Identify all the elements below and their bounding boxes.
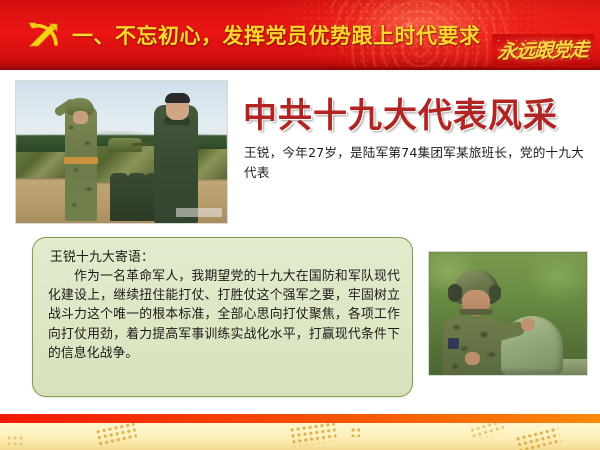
slide-canvas: 一、不忘初心，发挥党员优势跟上时代要求 永远跟党走 中共十九大代表风采 [0, 0, 600, 450]
photo-watermark [176, 208, 222, 217]
photo-soldier-saluting-leader [15, 80, 228, 224]
quote-heading: 王锐十九大寄语： [50, 249, 154, 267]
page-title: 中共十九大代表风采 [243, 88, 591, 137]
photo-helmet-earpad [448, 284, 462, 302]
photo-soldier-belt [64, 157, 98, 164]
photo-soldier-camouflage [65, 107, 97, 221]
photo-official-hair [165, 93, 190, 103]
photo-tank-crew-soldier [428, 251, 588, 376]
header-bottom-edge [0, 67, 600, 70]
photo-soldier-hand [521, 318, 535, 331]
photo-background-figure [128, 173, 146, 221]
header-banner: 一、不忘初心，发挥党员优势跟上时代要求 永远跟党走 [0, 0, 600, 70]
banner-title: 一、不忘初心，发挥党员优势跟上时代要求 [72, 19, 481, 53]
quote-panel: 王锐十九大寄语： 作为一名革命军人，我期望党的十九大在国防和军队现代化建设上，继… [32, 237, 413, 397]
footer-cream-band [0, 423, 600, 450]
forever-follow-party-text: 永远跟党走 [492, 34, 594, 68]
photo-soldier-face [73, 111, 88, 124]
forever-follow-party-logo: 永远跟党走 [492, 34, 594, 68]
footer-dot-pattern [95, 423, 138, 446]
footer-dot-pattern [469, 423, 506, 441]
photo-shoulder-patch [448, 338, 459, 349]
footer-dot-pattern [350, 427, 360, 437]
photo-helmet-earpad [489, 285, 501, 301]
photo-armored-vehicle [15, 152, 70, 178]
photo-helmet-chinstrap [459, 309, 493, 315]
footer-red-stripe [0, 414, 600, 423]
quote-body-text: 作为一名革命军人，我期望党的十九大在国防和军队现代化建设上，继续扭住能打仗、打胜… [48, 267, 400, 363]
photo-soldier-hand [465, 352, 480, 365]
footer-dot-pattern [289, 423, 337, 447]
subject-bio-text: 王锐，今年27岁，是陆军第74集团军某旅班长，党的十九大代表 [244, 143, 592, 183]
footer-dot-pattern [6, 435, 24, 445]
photo-background-figure [110, 173, 128, 221]
footer-dot-pattern [514, 426, 561, 450]
hammer-and-sickle-icon [24, 19, 64, 53]
